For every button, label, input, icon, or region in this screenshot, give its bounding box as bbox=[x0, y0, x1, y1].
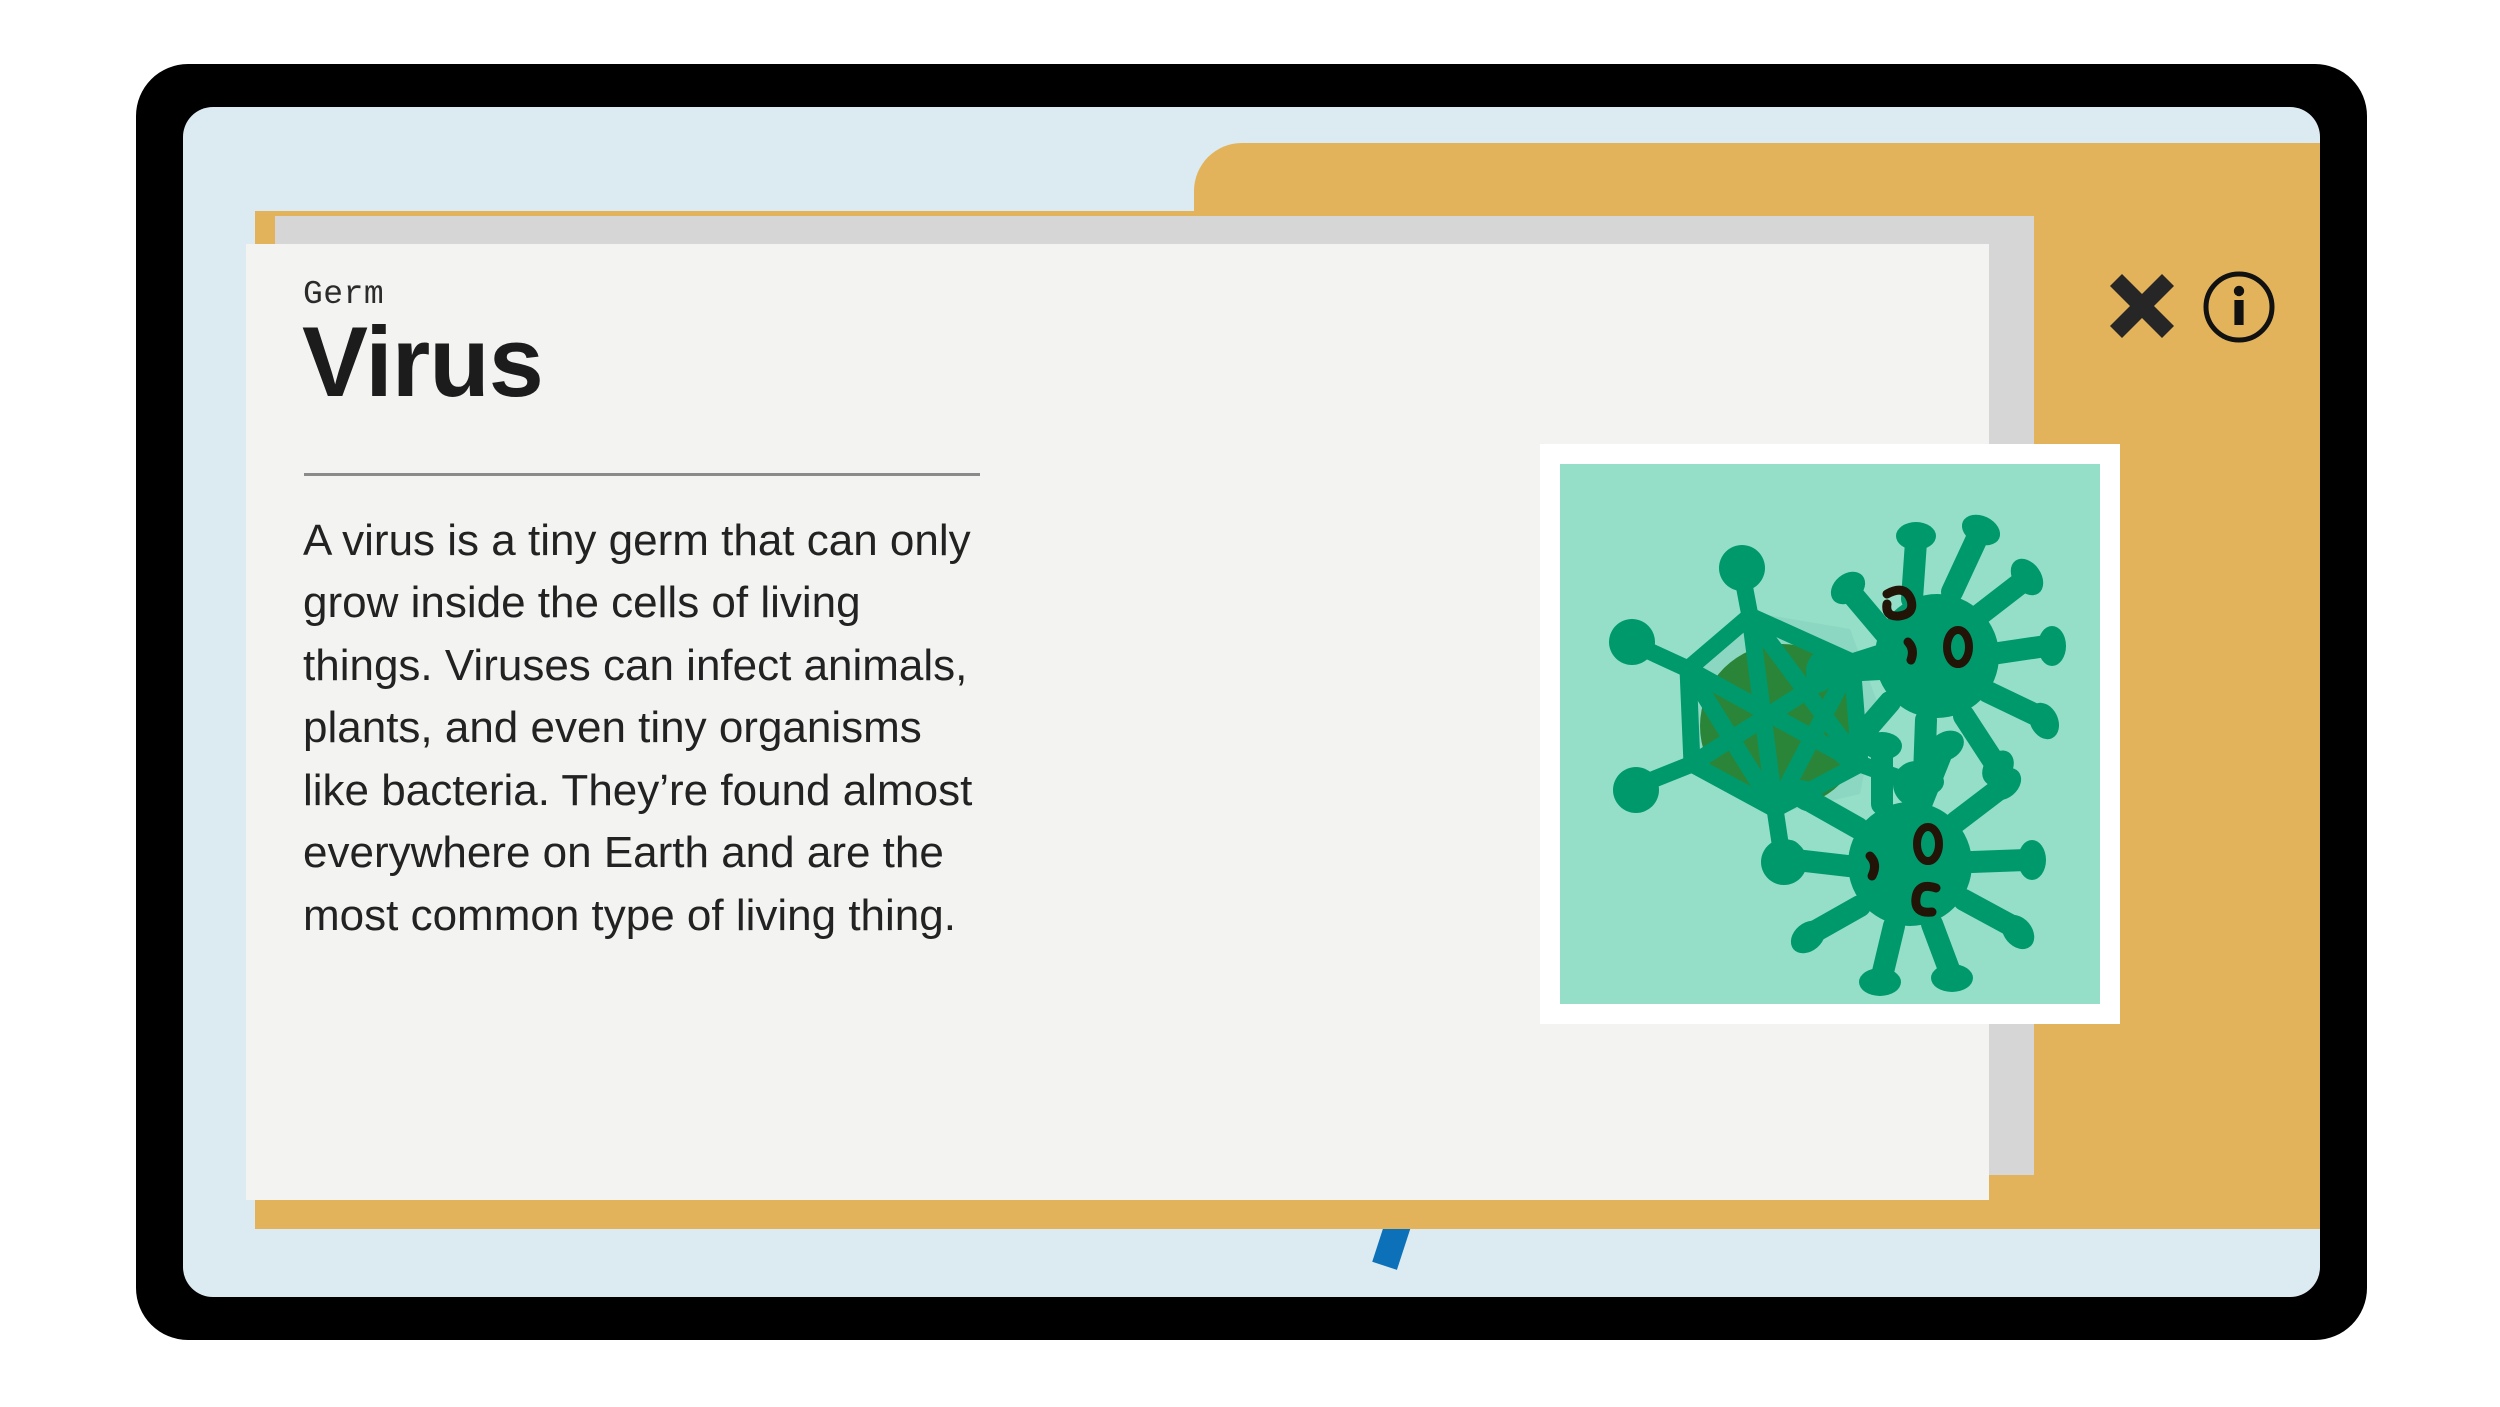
close-icon bbox=[2103, 267, 2181, 345]
page-title: Virus bbox=[302, 310, 543, 414]
virus-illustration bbox=[1560, 464, 2100, 1004]
illustration-frame bbox=[1540, 444, 2120, 1024]
info-icon bbox=[2201, 269, 2277, 345]
info-card: Germ Virus A virus is a tiny germ that c… bbox=[246, 244, 1989, 1200]
card-content: Germ Virus A virus is a tiny germ that c… bbox=[246, 244, 1989, 1200]
close-button[interactable] bbox=[2103, 267, 2181, 345]
card-description: A virus is a tiny germ that can only gro… bbox=[303, 510, 975, 947]
info-button[interactable] bbox=[2201, 269, 2277, 345]
device-screen: Source Spread Prevent Signs 0 0 Germ Vir… bbox=[183, 107, 2320, 1297]
card-divider bbox=[304, 473, 980, 476]
